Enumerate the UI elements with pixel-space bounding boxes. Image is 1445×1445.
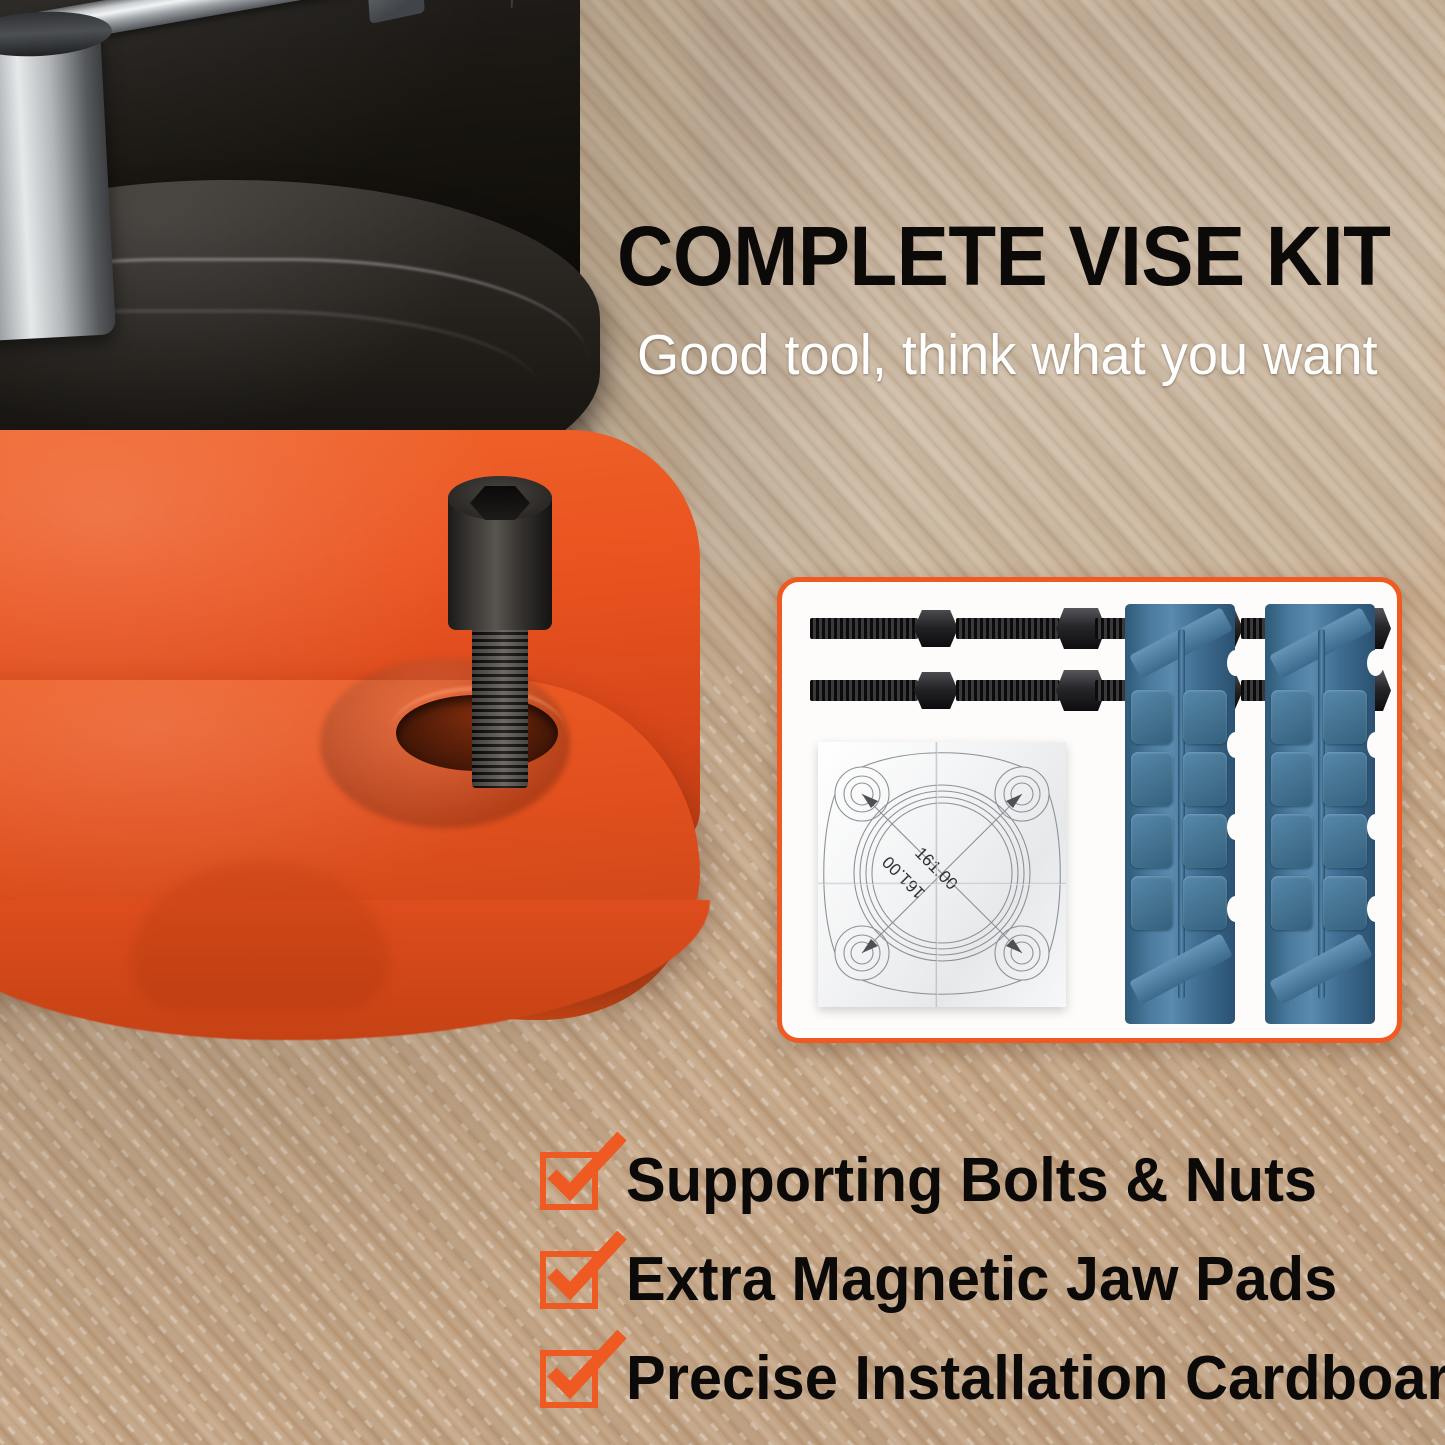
- technical-drawing-icon: 161.00 161.00: [818, 742, 1066, 1007]
- pad-edge-notch: [1227, 650, 1244, 676]
- jaw-pad-group: [1125, 604, 1375, 1024]
- t-handle-post: [0, 25, 116, 342]
- checkbox-checked-icon: [540, 1152, 598, 1210]
- bolt-thread-left: [810, 680, 918, 701]
- pad-cell: [1183, 814, 1227, 868]
- bolt-thread-right: [956, 618, 1060, 639]
- accessory-inset-panel: 161.00 161.00: [777, 577, 1402, 1043]
- checkbox-checked-icon: [540, 1251, 598, 1309]
- bolt-thread-right: [956, 680, 1060, 701]
- orange-cast-base: [0, 430, 820, 1090]
- pad-edge-notch: [1367, 896, 1384, 922]
- pad-cell: [1271, 814, 1313, 868]
- screw-threaded-shank: [472, 618, 528, 788]
- feature-label: Extra Magnetic Jaw Pads: [626, 1249, 1337, 1311]
- page-title: COMPLETE VISE KIT: [617, 216, 1338, 297]
- checkmark-glyph: [544, 1332, 630, 1406]
- feature-label: Precise Installation Cardboard: [626, 1348, 1445, 1410]
- pad-cell: [1271, 752, 1313, 806]
- bolt-thread-left: [810, 618, 918, 639]
- list-item: Precise Installation Cardboard: [540, 1336, 1420, 1422]
- pad-cell: [1131, 690, 1173, 744]
- hex-bolt-icon: [810, 608, 1110, 648]
- pad-cell: [1271, 690, 1313, 744]
- pad-cell: [1131, 752, 1173, 806]
- feature-label: Supporting Bolts & Nuts: [626, 1150, 1317, 1212]
- pad-edge-notch: [1367, 732, 1384, 758]
- pad-edge-notch: [1227, 896, 1244, 922]
- pad-cell: [1323, 690, 1367, 744]
- page-subtitle: Good tool, think what you want: [637, 326, 1359, 386]
- checkmark-glyph: [544, 1233, 630, 1307]
- checkmark-glyph: [544, 1134, 630, 1208]
- paper-fold-horizontal: [818, 882, 1066, 885]
- feature-checklist: Supporting Bolts & Nuts Extra Magnetic J…: [540, 1138, 1420, 1435]
- pad-cell: [1271, 876, 1313, 930]
- pad-cell: [1183, 690, 1227, 744]
- list-item: Supporting Bolts & Nuts: [540, 1138, 1420, 1224]
- pad-edge-notch: [1227, 814, 1244, 840]
- jaw-pad-icon: [1125, 604, 1235, 1024]
- bolt-group: [810, 608, 1110, 728]
- pad-cell: [1323, 752, 1367, 806]
- drawing-vector: 161.00 161.00: [818, 742, 1066, 1007]
- bolt-hex-nut: [914, 672, 958, 709]
- pad-edge-notch: [1227, 732, 1244, 758]
- product-marketing-image: COMPLETE VISE KIT Good tool, think what …: [0, 0, 1445, 1445]
- pad-cell: [1323, 876, 1367, 930]
- bolt-hex-nut: [914, 610, 958, 647]
- hex-bolt-icon: [810, 670, 1108, 710]
- checkbox-checked-icon: [540, 1350, 598, 1408]
- pad-edge-notch: [1367, 650, 1384, 676]
- socket-head-cap-screw: [440, 490, 560, 790]
- pad-edge-notch: [1367, 814, 1384, 840]
- pad-cell: [1183, 752, 1227, 806]
- paper-fold-vertical: [935, 742, 938, 1007]
- pad-cell: [1131, 876, 1173, 930]
- pad-cell: [1323, 814, 1367, 868]
- pad-cell: [1183, 876, 1227, 930]
- pad-cell: [1131, 814, 1173, 868]
- jaw-pad-icon: [1265, 604, 1375, 1024]
- list-item: Extra Magnetic Jaw Pads: [540, 1237, 1420, 1323]
